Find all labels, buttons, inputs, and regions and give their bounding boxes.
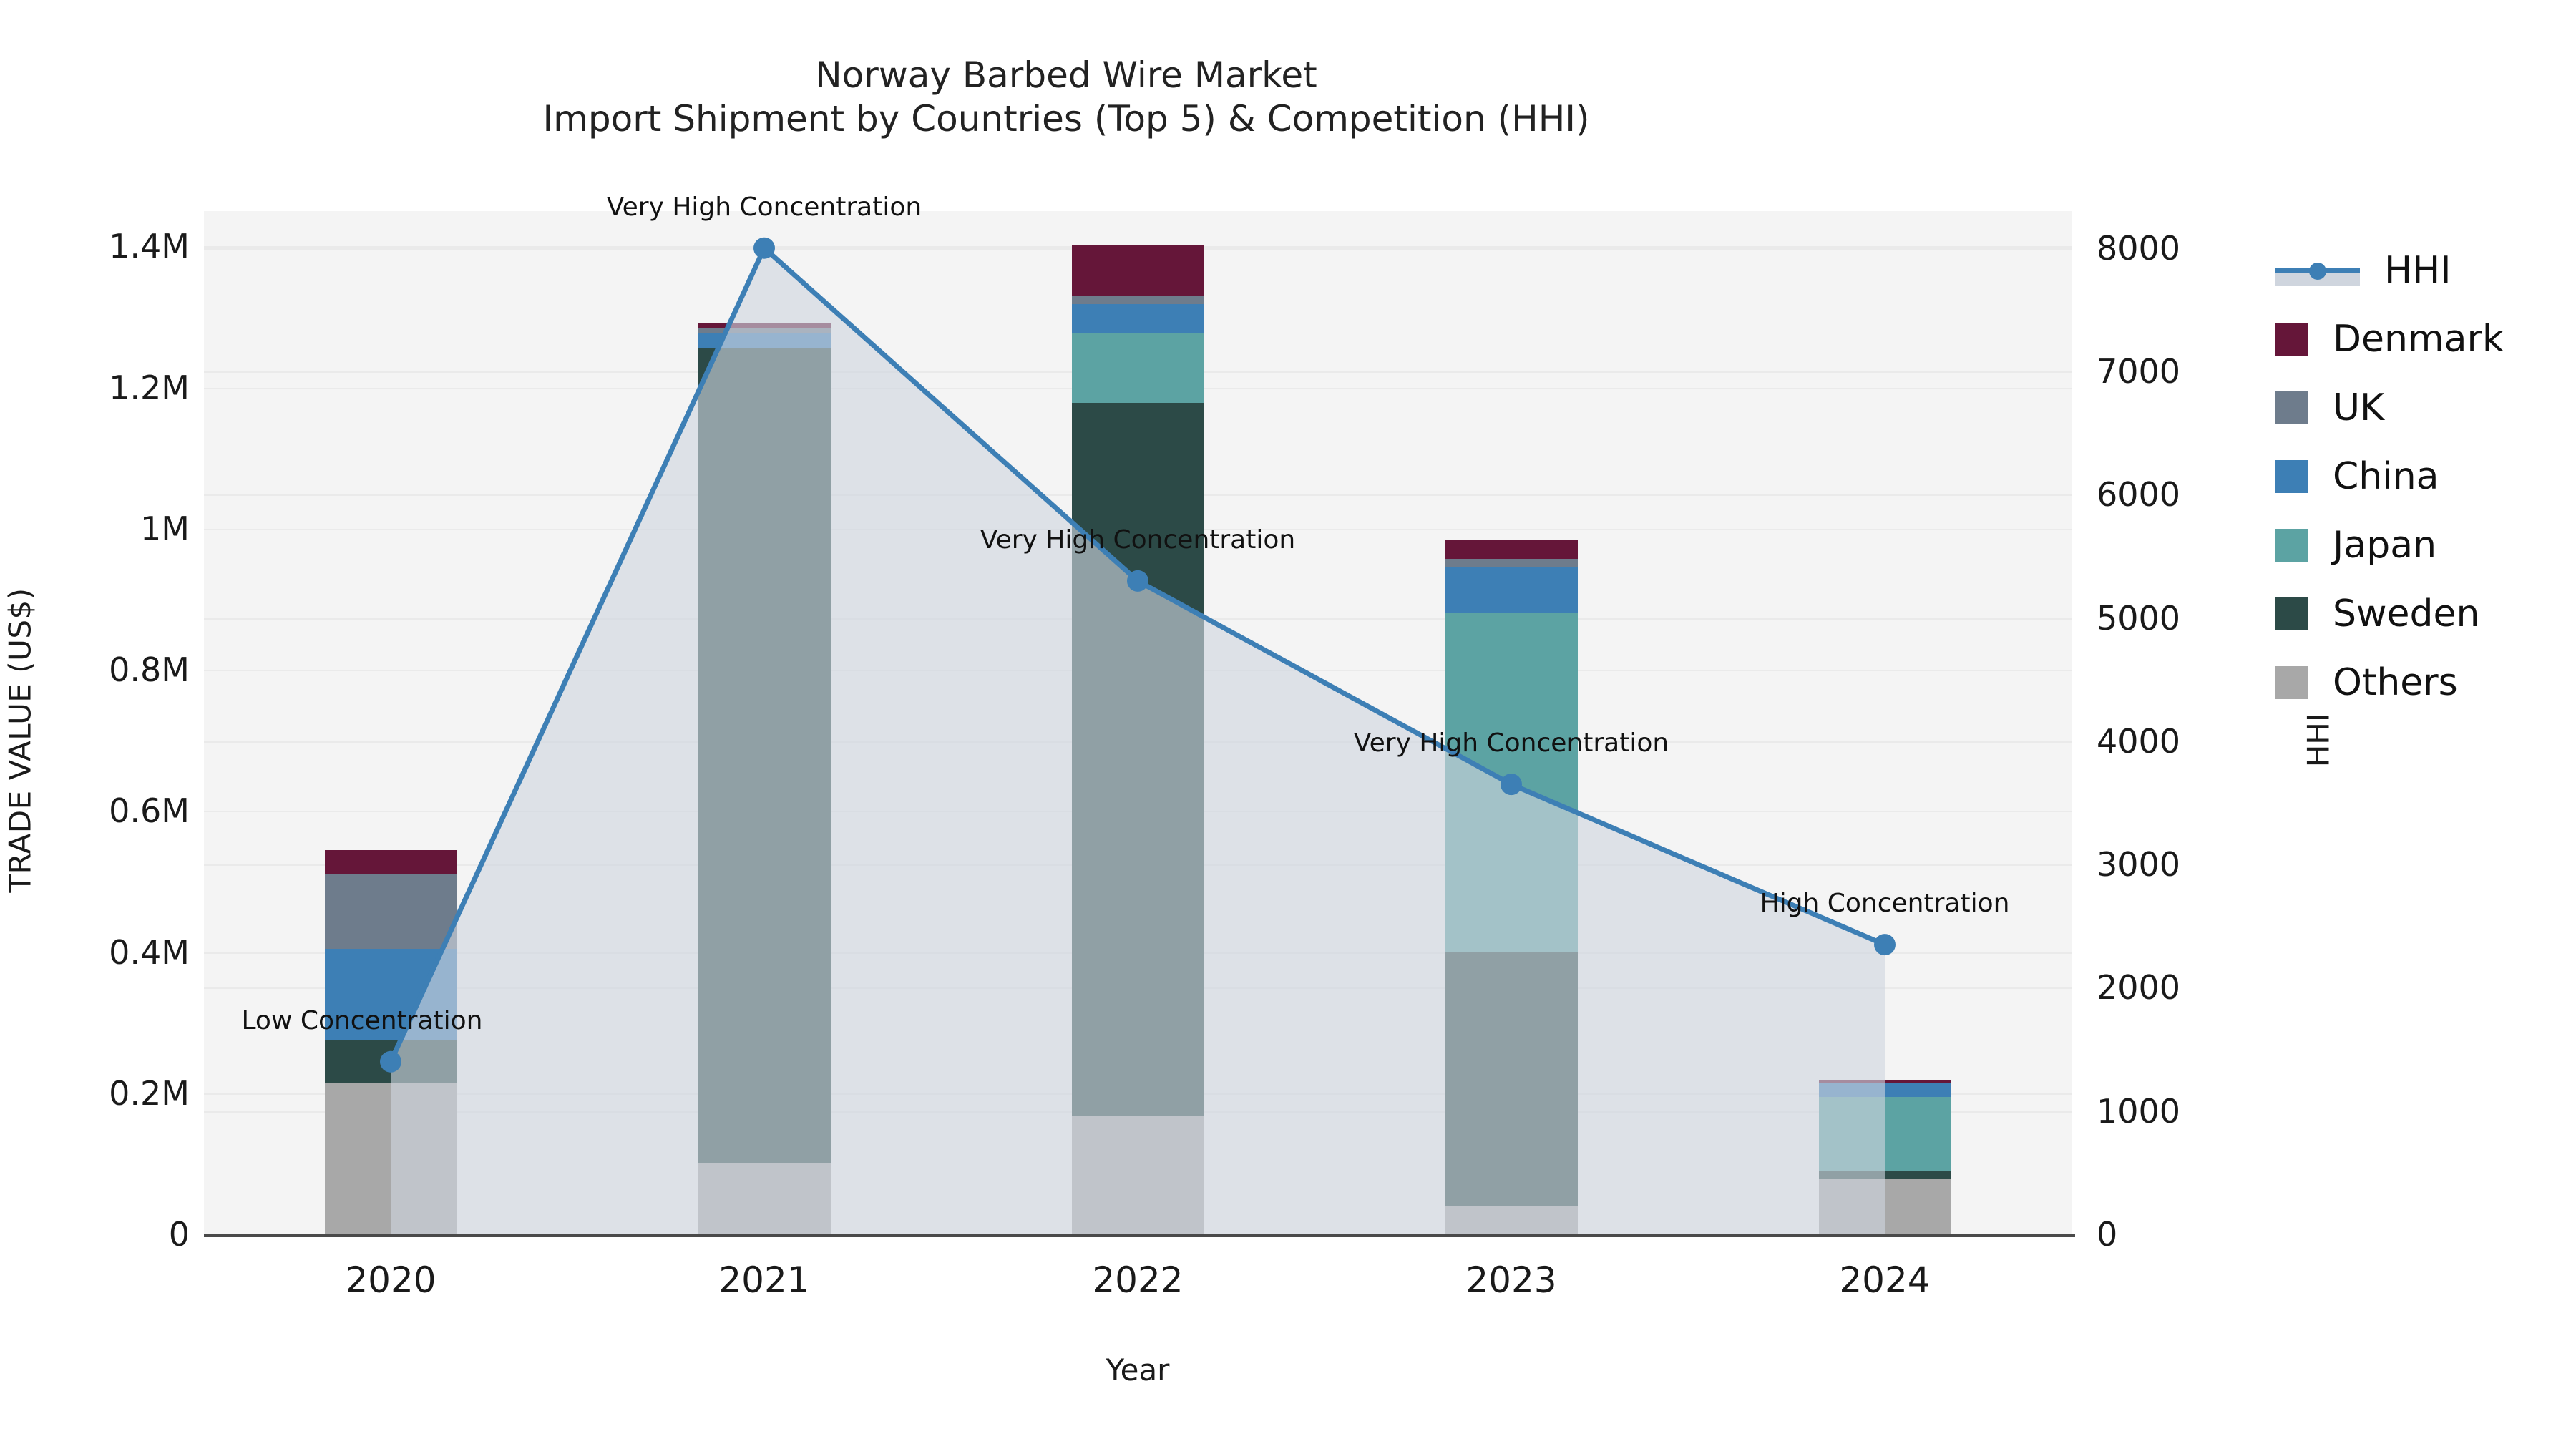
annotation-2023: Very High Concentration [1354, 728, 1669, 758]
y-axis-left-label: TRADE VALUE (US$) [3, 555, 38, 927]
y-axis-right-tick: 3000 [2097, 845, 2311, 884]
bar-segment-japan[interactable] [1072, 333, 1204, 404]
x-axis-tick[interactable]: 2021 [657, 1259, 872, 1301]
chart-title: Norway Barbed Wire Market Import Shipmen… [0, 54, 2132, 141]
x-axis-label: Year [204, 1352, 2072, 1387]
bar-2021[interactable] [698, 323, 831, 1234]
bar-segment-denmark[interactable] [698, 323, 831, 328]
legend-item-uk[interactable]: UK [2275, 374, 2504, 442]
legend-item-others[interactable]: Others [2275, 648, 2504, 717]
x-axis-tick[interactable]: 2023 [1404, 1259, 1619, 1301]
y-axis-right-tick: 1000 [2097, 1092, 2311, 1131]
legend-swatch-uk [2275, 391, 2308, 424]
y-axis-left-tick: 1M [0, 509, 190, 548]
legend-swatch-denmark [2275, 323, 2308, 356]
y-axis-left-tick: 0 [0, 1215, 190, 1254]
y-axis-left-tick: 1.2M [0, 369, 190, 407]
bar-segment-sweden[interactable] [1819, 1171, 1951, 1179]
bar-segment-china[interactable] [1445, 567, 1578, 613]
bar-segment-denmark[interactable] [1819, 1080, 1951, 1083]
legend-label: UK [2333, 389, 2384, 426]
title-line-1: Norway Barbed Wire Market [0, 54, 2132, 97]
bar-2022[interactable] [1072, 245, 1204, 1234]
x-axis-line [204, 1234, 2075, 1237]
annotation-2022: Very High Concentration [980, 525, 1295, 555]
bar-segment-japan[interactable] [1445, 613, 1578, 952]
legend-item-sweden[interactable]: Sweden [2275, 580, 2504, 648]
annotation-2024: High Concentration [1760, 889, 2010, 918]
bar-segment-uk[interactable] [698, 328, 831, 333]
bar-segment-uk[interactable] [1072, 296, 1204, 304]
y-axis-left-tick: 0.4M [0, 933, 190, 972]
legend-line-marker-icon [2275, 254, 2360, 287]
legend-dot-icon [2309, 263, 2326, 280]
legend-item-japan[interactable]: Japan [2275, 511, 2504, 580]
legend-label: Sweden [2333, 595, 2480, 633]
x-axis-tick[interactable]: 2020 [283, 1259, 498, 1301]
bar-segment-denmark[interactable] [325, 850, 457, 875]
legend-swatch-japan [2275, 529, 2308, 562]
legend-item-china[interactable]: China [2275, 442, 2504, 511]
y-axis-right-tick: 0 [2097, 1215, 2311, 1254]
bar-2020[interactable] [325, 850, 457, 1234]
legend-label: China [2333, 458, 2439, 495]
y-axis-right-tick: 4000 [2097, 722, 2311, 761]
annotation-2021: Very High Concentration [607, 192, 922, 222]
bar-segment-sweden[interactable] [1072, 403, 1204, 1116]
bar-segment-sweden[interactable] [1445, 952, 1578, 1206]
bar-segment-others[interactable] [698, 1163, 831, 1234]
legend-item-denmark[interactable]: Denmark [2275, 305, 2504, 374]
bar-segment-sweden[interactable] [325, 1040, 457, 1083]
bar-segment-others[interactable] [1445, 1206, 1578, 1234]
y-axis-left-tick: 0.2M [0, 1074, 190, 1113]
title-line-2: Import Shipment by Countries (Top 5) & C… [0, 97, 2132, 141]
legend-swatch-sweden [2275, 597, 2308, 630]
bar-segment-others[interactable] [1819, 1179, 1951, 1234]
bar-2023[interactable] [1445, 540, 1578, 1234]
bar-segment-china[interactable] [1819, 1083, 1951, 1097]
annotation-2020: Low Concentration [241, 1006, 482, 1035]
legend-swatch-china [2275, 460, 2308, 493]
bar-segment-uk[interactable] [325, 874, 457, 949]
x-axis-tick[interactable]: 2024 [1777, 1259, 1992, 1301]
bar-segment-japan[interactable] [1819, 1097, 1951, 1171]
legend-label: Denmark [2333, 321, 2504, 358]
legend-label: Japan [2333, 527, 2436, 564]
bar-segment-sweden[interactable] [698, 348, 831, 1163]
bar-segment-others[interactable] [325, 1083, 457, 1234]
y-axis-left-tick: 1.4M [0, 227, 190, 265]
bar-segment-uk[interactable] [1445, 559, 1578, 567]
bar-segment-denmark[interactable] [1072, 245, 1204, 296]
bar-2024[interactable] [1819, 1080, 1951, 1234]
bar-segment-denmark[interactable] [1445, 540, 1578, 560]
legend-swatch-others [2275, 666, 2308, 699]
chart-root: Norway Barbed Wire Market Import Shipmen… [0, 0, 2576, 1449]
bar-segment-others[interactable] [1072, 1116, 1204, 1234]
chart-legend: HHIDenmarkUKChinaJapanSwedenOthers [2275, 236, 2504, 717]
y-axis-right-tick: 2000 [2097, 968, 2311, 1007]
x-axis-tick[interactable]: 2022 [1030, 1259, 1245, 1301]
legend-label: Others [2333, 664, 2458, 701]
bar-segment-china[interactable] [1072, 304, 1204, 332]
legend-item-hhi[interactable]: HHI [2275, 236, 2504, 305]
legend-label: HHI [2384, 252, 2451, 289]
bar-segment-china[interactable] [698, 333, 831, 349]
